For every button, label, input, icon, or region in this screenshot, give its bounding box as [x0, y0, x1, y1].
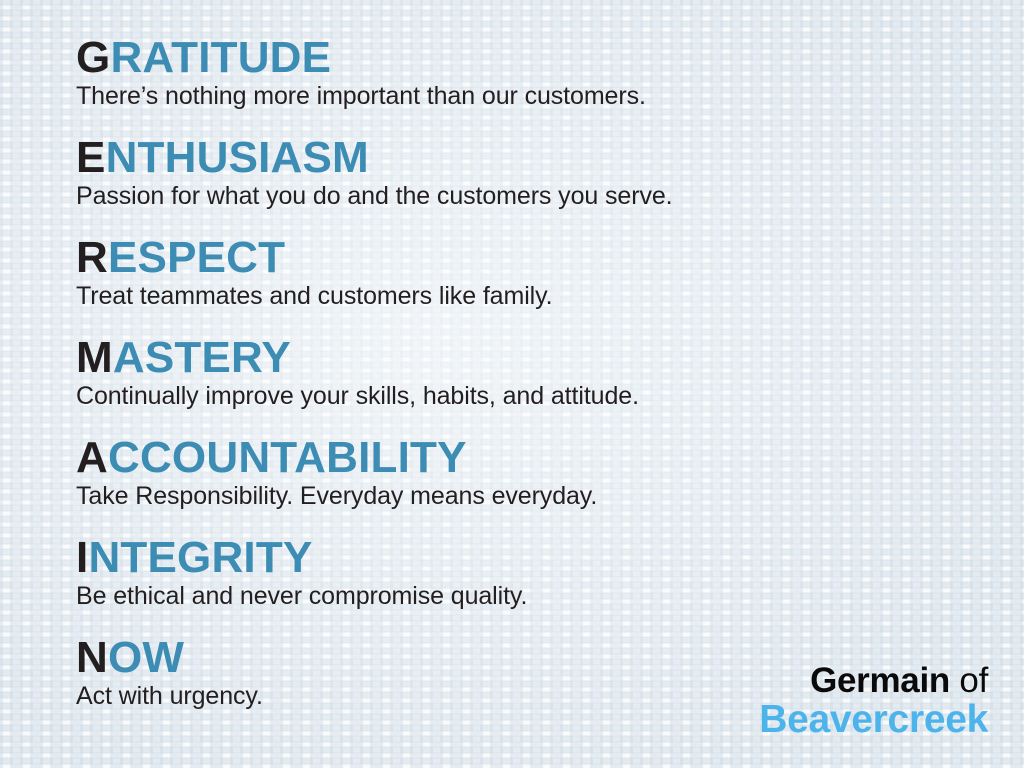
value-heading-rest: OW [108, 633, 184, 682]
core-values-poster: GRATITUDE There’s nothing more important… [0, 0, 1024, 768]
value-block-enthusiasm: ENTHUSIASM Passion for what you do and t… [76, 136, 1024, 236]
value-initial-letter: G [76, 33, 110, 82]
value-heading-accountability: ACCOUNTABILITY [76, 436, 1024, 480]
value-heading-rest: ESPECT [108, 233, 285, 282]
value-initial-letter: A [76, 433, 108, 482]
value-initial-letter: I [76, 533, 88, 582]
value-initial-letter: N [76, 633, 108, 682]
value-heading-rest: ASTERY [113, 333, 291, 382]
value-heading-rest: NTEGRITY [88, 533, 312, 582]
value-heading-rest: RATITUDE [110, 33, 331, 82]
value-initial-letter: R [76, 233, 108, 282]
value-description-integrity: Be ethical and never compromise quality. [76, 582, 1024, 611]
dealership-logo: Germain of Beavercreek [759, 663, 988, 740]
brand-location: Beavercreek [759, 700, 988, 740]
value-description-respect: Treat teammates and customers like famil… [76, 282, 1024, 311]
value-heading-mastery: MASTERY [76, 336, 1024, 380]
value-heading-rest: NTHUSIASM [106, 133, 369, 182]
value-description-enthusiasm: Passion for what you do and the customer… [76, 182, 1024, 211]
value-initial-letter: M [76, 333, 113, 382]
value-description-gratitude: There’s nothing more important than our … [76, 82, 1024, 111]
brand-connector: of [950, 661, 988, 700]
value-description-accountability: Take Responsibility. Everyday means ever… [76, 482, 1024, 511]
value-initial-letter: E [76, 133, 106, 182]
value-description-mastery: Continually improve your skills, habits,… [76, 382, 1024, 411]
value-block-integrity: INTEGRITY Be ethical and never compromis… [76, 536, 1024, 636]
value-block-accountability: ACCOUNTABILITY Take Responsibility. Ever… [76, 436, 1024, 536]
value-heading-rest: CCOUNTABILITY [108, 433, 467, 482]
value-block-mastery: MASTERY Continually improve your skills,… [76, 336, 1024, 436]
value-heading-integrity: INTEGRITY [76, 536, 1024, 580]
value-heading-enthusiasm: ENTHUSIASM [76, 136, 1024, 180]
brand-name: Germain [810, 661, 950, 700]
value-block-gratitude: GRATITUDE There’s nothing more important… [76, 36, 1024, 136]
value-heading-respect: RESPECT [76, 236, 1024, 280]
value-block-respect: RESPECT Treat teammates and customers li… [76, 236, 1024, 336]
value-heading-gratitude: GRATITUDE [76, 36, 1024, 80]
brand-name-line: Germain of [759, 663, 988, 699]
